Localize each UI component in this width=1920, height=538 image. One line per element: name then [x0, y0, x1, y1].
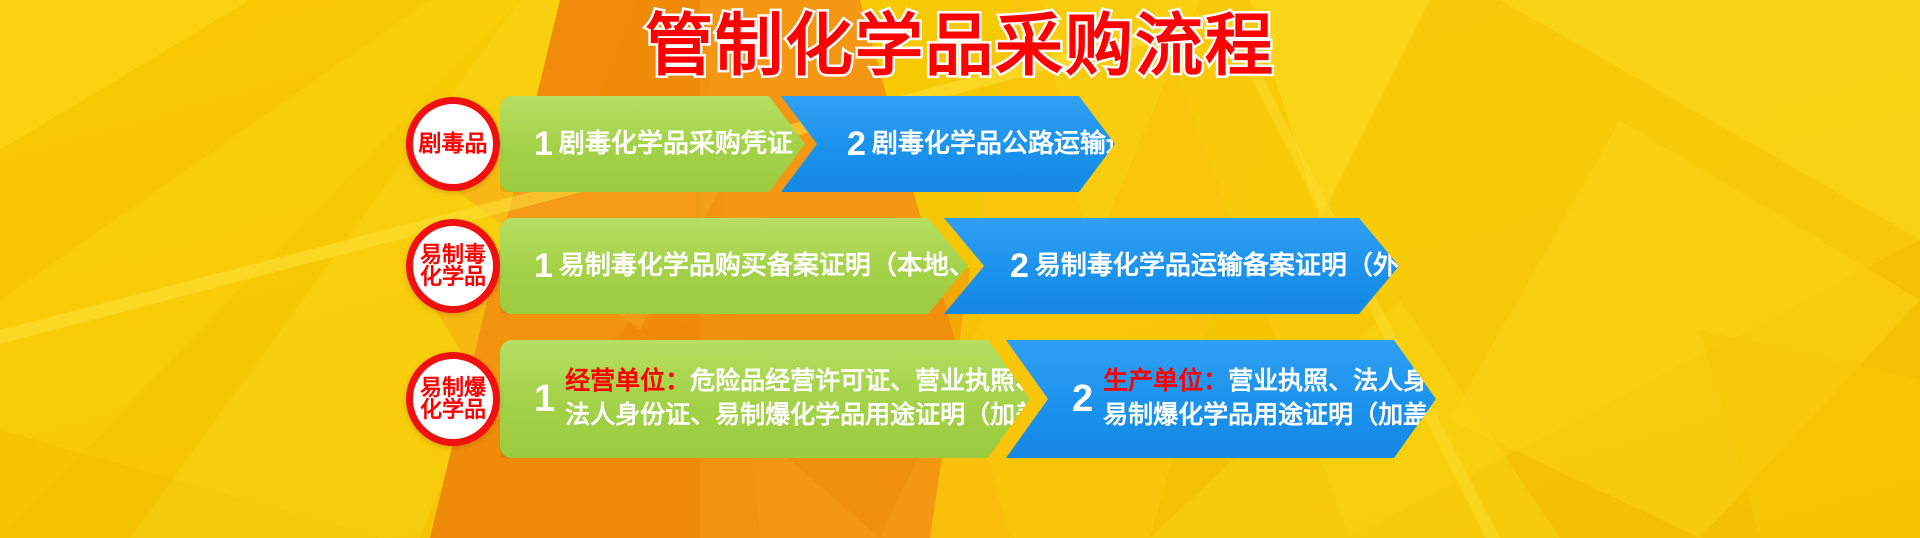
step-label-block: 生产单位：营业执照、法人身份证、 易制爆化学品用途证明（加盖红章）	[1103, 365, 1503, 433]
steps-container: 1 剧毒化学品采购凭证 2 剧毒化学品公路运输通行证	[476, 96, 1920, 192]
step-label-line-1: 生产单位：营业执照、法人身份证、	[1103, 365, 1503, 399]
category-badge-explosive-precursor: 易制爆 化学品	[406, 352, 500, 446]
flow-row-toxic: 剧毒品 1 剧毒化学品采购凭证 2 剧毒化学品公路运输通行证	[0, 96, 1920, 192]
step-chip-1[interactable]: 1 剧毒化学品采购凭证	[500, 96, 805, 192]
badge-line: 易制爆	[420, 377, 486, 399]
page-title: 管制化学品采购流程	[645, 6, 1275, 86]
badge-line: 剧毒品	[419, 132, 488, 155]
step-number: 1	[534, 249, 553, 283]
step-chip-1[interactable]: 1 经营单位：危险品经营许可证、营业执照、 法人身份证、易制爆化学品用途证明（加…	[500, 340, 1030, 458]
step-line-1-text: 营业执照、法人身份证、	[1228, 367, 1503, 395]
step-number: 2	[1072, 380, 1093, 418]
step-chip-2[interactable]: 2 剧毒化学品公路运输通行证	[781, 96, 1115, 192]
step-chip-1[interactable]: 1 易制毒化学品购买备案证明（本地、外地）	[500, 218, 968, 314]
step-chip-2[interactable]: 2 易制毒化学品运输备案证明（外地）	[944, 218, 1399, 314]
step-label: 剧毒化学品公路运输通行证	[872, 126, 1184, 161]
category-badge-drug-precursor: 易制毒 化学品	[406, 219, 500, 313]
step-emphasis: 经营单位：	[565, 367, 690, 395]
step-number: 2	[847, 127, 866, 161]
step-number: 1	[534, 127, 553, 161]
step-chip-2[interactable]: 2 生产单位：营业执照、法人身份证、 易制爆化学品用途证明（加盖红章）	[1006, 340, 1436, 458]
page-title-container: 管制化学品采购流程	[0, 6, 1920, 86]
steps-container: 1 易制毒化学品购买备案证明（本地、外地） 2 易制毒化学品运输备案证明（外地）	[476, 218, 1920, 314]
steps-container: 1 经营单位：危险品经营许可证、营业执照、 法人身份证、易制爆化学品用途证明（加…	[476, 340, 1920, 458]
badge-line: 化学品	[420, 266, 486, 288]
flow-row-drug-precursor: 易制毒 化学品 1 易制毒化学品购买备案证明（本地、外地） 2 易制毒化学品运输…	[0, 218, 1920, 314]
step-number: 2	[1010, 249, 1029, 283]
step-emphasis: 生产单位：	[1103, 367, 1228, 395]
category-badge-toxic: 剧毒品	[406, 97, 500, 191]
badge-line: 化学品	[420, 399, 486, 421]
flow-diagram: 剧毒品 1 剧毒化学品采购凭证 2 剧毒化学品公路运输通行证 易制毒 化学品 1…	[0, 96, 1920, 484]
step-label: 剧毒化学品采购凭证	[559, 126, 793, 161]
step-number: 1	[534, 380, 555, 418]
step-line-1-text: 危险品经营许可证、营业执照、	[690, 367, 1040, 395]
step-label: 易制毒化学品运输备案证明（外地）	[1035, 248, 1451, 283]
badge-line: 易制毒	[420, 244, 486, 266]
flow-row-explosive-precursor: 易制爆 化学品 1 经营单位：危险品经营许可证、营业执照、 法人身份证、易制爆化…	[0, 340, 1920, 458]
step-label-line-2: 易制爆化学品用途证明（加盖红章）	[1103, 399, 1503, 433]
